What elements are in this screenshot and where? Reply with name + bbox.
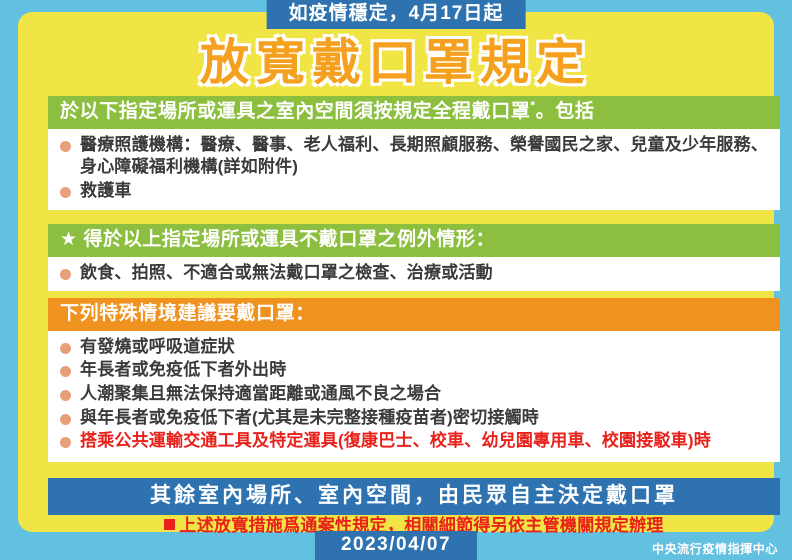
section-mandatory-mask: 於以下指定場所或運具之室內空間須按規定全程戴口罩*。包括 醫療照護機構：醫療、醫… [48, 96, 780, 210]
publish-date-badge: 2023/04/07 [315, 531, 477, 560]
section-body-recommended: 有發燒或呼吸道症狀 年長者或免疫低下者外出時 人潮聚集且無法保持適當距離或通風不… [48, 331, 780, 462]
self-decision-banner: 其餘室內場所、室內空間，由民眾自主決定戴口罩 [48, 478, 780, 515]
list-item: 有發燒或呼吸道症狀 [58, 336, 770, 359]
section-body-exceptions: 飲食、拍照、不適合或無法戴口罩之檢查、治療或活動 [48, 257, 780, 292]
list-item: 搭乘公共運輸交通工具及特定運具(復康巴士、校車、幼兒園專用車、校園接駁車)時 [58, 430, 770, 453]
list-item: 年長者或免疫低下者外出時 [58, 359, 770, 382]
list-item: 人潮聚集且無法保持適當距離或通風不良之場合 [58, 383, 770, 406]
section-exceptions: ★ 得於以上指定場所或運具不戴口罩之例外情形： 飲食、拍照、不適合或無法戴口罩之… [48, 224, 780, 291]
section-heading-mandatory-tail: 。包括 [536, 101, 595, 122]
list-item: 與年長者或免疫低下者(尤其是未完整接種疫苗者)密切接觸時 [58, 407, 770, 430]
section-heading-mandatory-text: 於以下指定場所或運具之室內空間須按規定全程戴口罩 [60, 101, 530, 122]
poster-root: 放寬戴口罩規定 於以下指定場所或運具之室內空間須按規定全程戴口罩*。包括 醫療照… [0, 0, 792, 560]
section-heading-recommended: 下列特殊情境建議要戴口罩： [48, 298, 780, 331]
list-exceptions: 飲食、拍照、不適合或無法戴口罩之檢查、治療或活動 [58, 262, 770, 285]
section-body-mandatory: 醫療照護機構：醫療、醫事、老人福利、長期照顧服務、榮譽國民之家、兒童及少年服務、… [48, 129, 780, 210]
list-item: 飲食、拍照、不適合或無法戴口罩之檢查、治療或活動 [58, 262, 770, 285]
section-recommended: 下列特殊情境建議要戴口罩： 有發燒或呼吸道症狀 年長者或免疫低下者外出時 人潮聚… [48, 298, 780, 462]
agency-credit: 中央流行疫情指揮中心 [652, 540, 778, 557]
square-bullet-icon [164, 519, 175, 530]
section-heading-mandatory: 於以下指定場所或運具之室內空間須按規定全程戴口罩*。包括 [48, 96, 780, 129]
list-mandatory: 醫療照護機構：醫療、醫事、老人福利、長期照顧服務、榮譽國民之家、兒童及少年服務、… [58, 134, 770, 203]
section-heading-exceptions: ★ 得於以上指定場所或運具不戴口罩之例外情形： [48, 224, 780, 257]
list-item: 醫療照護機構：醫療、醫事、老人福利、長期照顧服務、榮譽國民之家、兒童及少年服務、… [58, 134, 770, 179]
main-panel: 放寬戴口罩規定 於以下指定場所或運具之室內空間須按規定全程戴口罩*。包括 醫療照… [18, 12, 774, 532]
list-recommended: 有發燒或呼吸道症狀 年長者或免疫低下者外出時 人潮聚集且無法保持適當距離或通風不… [58, 336, 770, 453]
page-title: 放寬戴口罩規定 [18, 36, 774, 91]
list-item: 救護車 [58, 180, 770, 203]
effective-date-badge: 如疫情穩定，4月17日起 [267, 0, 526, 29]
